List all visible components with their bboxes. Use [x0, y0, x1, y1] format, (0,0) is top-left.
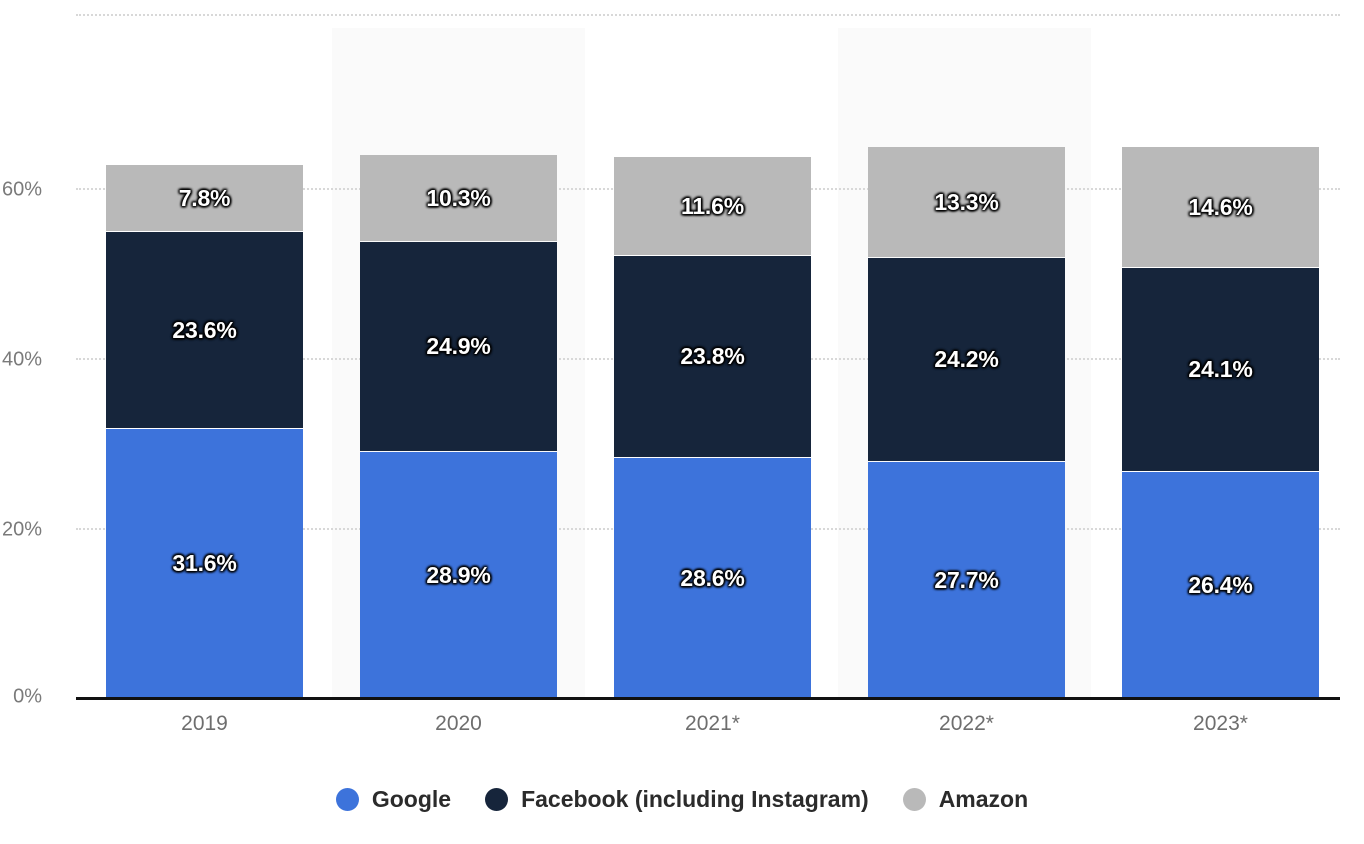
bar-segment-label: 11.6%	[681, 193, 744, 220]
bar-segment-amazon[interactable]: 10.3%	[360, 155, 557, 241]
bar-segment-label: 14.6%	[1188, 194, 1252, 221]
bar-group-2019[interactable]: 7.8% 23.6% 31.6%	[106, 0, 303, 698]
x-tick-label-2023: 2023*	[1122, 712, 1319, 736]
bar-segment-facebook[interactable]: 24.2%	[868, 258, 1065, 461]
bar-segment-label: 31.6%	[172, 550, 236, 577]
bar-segment-label: 24.1%	[1188, 356, 1252, 383]
legend-swatch-icon	[336, 788, 359, 811]
bar-group-2021[interactable]: 11.6% 23.8% 28.6%	[614, 0, 811, 698]
x-tick-label-2020: 2020	[360, 712, 557, 736]
bar-segment-facebook[interactable]: 24.9%	[360, 242, 557, 451]
y-tick-label-40: 40%	[0, 349, 42, 372]
bar-segment-label: 28.9%	[426, 562, 490, 589]
bar-segment-facebook[interactable]: 24.1%	[1122, 268, 1319, 471]
bar-segment-google[interactable]: 27.7%	[868, 462, 1065, 698]
bar-segment-label: 26.4%	[1188, 572, 1252, 599]
legend-label: Facebook (including Instagram)	[521, 786, 869, 813]
bar-segment-google[interactable]: 26.4%	[1122, 472, 1319, 698]
stacked-bar-chart: 60% 40% 20% 0% 7.8% 23.6% 31.6% 10.3% 24…	[0, 0, 1364, 844]
bar-segment-google[interactable]: 28.6%	[614, 458, 811, 698]
bar-segment-label: 10.3%	[426, 185, 490, 212]
bar-segment-amazon[interactable]: 13.3%	[868, 147, 1065, 257]
legend-swatch-icon	[485, 788, 508, 811]
x-tick-label-2019: 2019	[106, 712, 303, 736]
bar-segment-label: 24.9%	[426, 333, 490, 360]
legend-label: Google	[372, 786, 451, 813]
bar-segment-label: 24.2%	[934, 346, 998, 373]
x-tick-label-2022: 2022*	[868, 712, 1065, 736]
legend-item-google[interactable]: Google	[336, 786, 451, 813]
bar-segment-label: 7.8%	[179, 185, 231, 212]
bar-segment-label: 27.7%	[934, 567, 998, 594]
bar-segment-google[interactable]: 28.9%	[360, 452, 557, 698]
y-tick-label-0: 0%	[0, 686, 42, 709]
bar-segment-amazon[interactable]: 7.8%	[106, 165, 303, 231]
bar-segment-google[interactable]: 31.6%	[106, 429, 303, 698]
bar-segment-facebook[interactable]: 23.8%	[614, 256, 811, 457]
chart-legend: Google Facebook (including Instagram) Am…	[0, 786, 1364, 813]
legend-item-amazon[interactable]: Amazon	[903, 786, 1028, 813]
bar-group-2023[interactable]: 14.6% 24.1% 26.4%	[1122, 0, 1319, 698]
legend-item-facebook[interactable]: Facebook (including Instagram)	[485, 786, 869, 813]
bar-segment-amazon[interactable]: 11.6%	[614, 157, 811, 255]
plot-area: 60% 40% 20% 0% 7.8% 23.6% 31.6% 10.3% 24…	[76, 0, 1340, 698]
bar-segment-label: 28.6%	[680, 565, 744, 592]
y-tick-label-60: 60%	[0, 179, 42, 202]
bar-segment-amazon[interactable]: 14.6%	[1122, 147, 1319, 267]
bar-group-2022[interactable]: 13.3% 24.2% 27.7%	[868, 0, 1065, 698]
x-tick-label-2021: 2021*	[614, 712, 811, 736]
bar-segment-label: 23.6%	[172, 317, 236, 344]
x-axis-baseline	[76, 697, 1340, 700]
legend-label: Amazon	[939, 786, 1028, 813]
bar-segment-facebook[interactable]: 23.6%	[106, 232, 303, 428]
legend-swatch-icon	[903, 788, 926, 811]
bar-group-2020[interactable]: 10.3% 24.9% 28.9%	[360, 0, 557, 698]
bar-segment-label: 23.8%	[680, 343, 744, 370]
y-tick-label-20: 20%	[0, 519, 42, 542]
bar-segment-label: 13.3%	[934, 189, 998, 216]
